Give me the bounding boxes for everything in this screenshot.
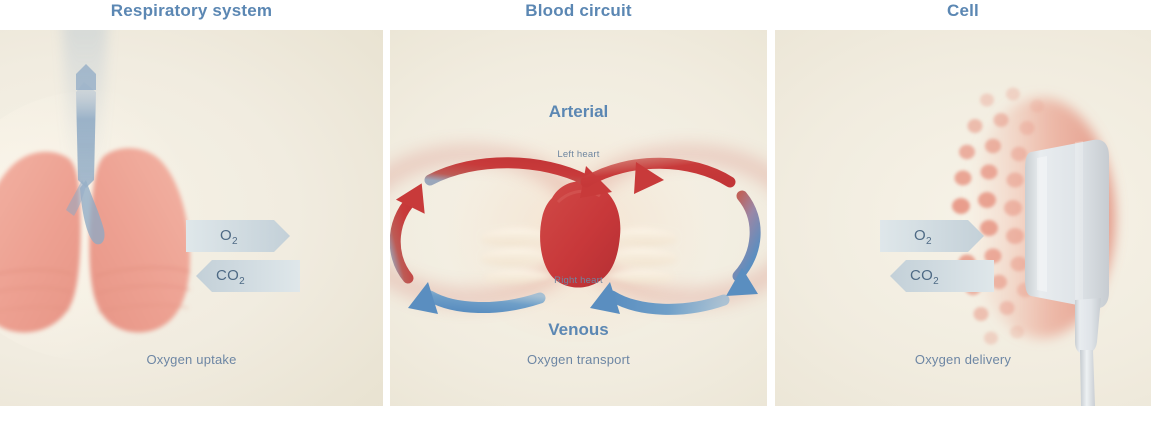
panel-blood-circuit-inner: Arterial Left heart Right heart Venous O… <box>390 30 767 406</box>
gas-chevron-shapes-cell <box>872 216 1002 296</box>
gas-arrows-cell: O2 CO2 <box>872 216 1002 296</box>
panel-title-respiratory-system: Respiratory system <box>0 0 383 30</box>
gas-chevron-shapes <box>178 216 308 296</box>
panel-title-blood-circuit: Blood circuit <box>390 0 767 30</box>
panel-respiratory-inner: O2 CO2 Oxygen uptake <box>0 30 383 406</box>
panel-titles-row: Respiratory system Blood circuit Cell <box>0 0 1151 30</box>
panel-blood-circuit: Arterial Left heart Right heart Venous O… <box>390 30 767 406</box>
panel-respiratory-system: O2 CO2 Oxygen uptake <box>0 30 383 406</box>
panel-title-cell: Cell <box>775 0 1151 30</box>
panel-caption-oxygen-uptake: Oxygen uptake <box>0 352 383 367</box>
label-venous: Venous <box>390 320 767 340</box>
panel-caption-oxygen-delivery: Oxygen delivery <box>775 352 1151 367</box>
panel-cell: O2 CO2 Oxygen delivery <box>775 30 1151 406</box>
label-arterial: Arterial <box>390 102 767 122</box>
panel-cell-inner: O2 CO2 Oxygen delivery <box>775 30 1151 406</box>
panel-caption-oxygen-transport: Oxygen transport <box>390 352 767 367</box>
label-right-heart: Right heart <box>390 275 767 286</box>
heart-circulation-illustration <box>390 30 767 406</box>
label-left-heart: Left heart <box>390 149 767 160</box>
gas-arrows-respiratory: O2 CO2 <box>178 216 308 296</box>
